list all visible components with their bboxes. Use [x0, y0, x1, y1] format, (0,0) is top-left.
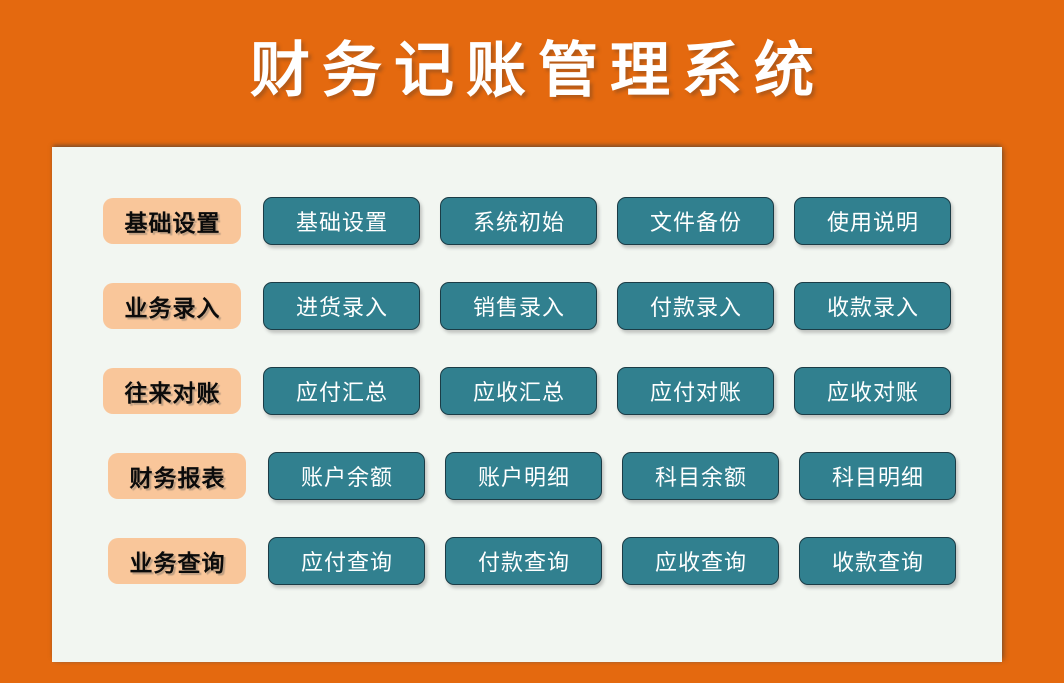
menu-cell: 销售录入: [440, 282, 597, 330]
menu-cell: 应付汇总: [263, 367, 420, 415]
menu-cell: 账户余额: [268, 452, 425, 500]
menu-cell: 科目明细: [799, 452, 956, 500]
page-title: 财务记账管理系统: [0, 33, 1064, 109]
button-payable-reconciliation[interactable]: 应付对账: [617, 367, 774, 415]
button-payment-query[interactable]: 付款查询: [445, 537, 602, 585]
button-sales-entry[interactable]: 销售录入: [440, 282, 597, 330]
button-account-details[interactable]: 账户明细: [445, 452, 602, 500]
category-label-basic-settings: 基础设置: [103, 198, 241, 244]
menu-cell: 基础设置: [263, 197, 420, 245]
button-receivable-summary[interactable]: 应收汇总: [440, 367, 597, 415]
category-label-financial-reports: 财务报表: [108, 453, 246, 499]
button-payable-summary[interactable]: 应付汇总: [263, 367, 420, 415]
menu-cell: 系统初始: [440, 197, 597, 245]
category-label-business-entry: 业务录入: [103, 283, 241, 329]
button-account-balance[interactable]: 账户余额: [268, 452, 425, 500]
button-subject-balance[interactable]: 科目余额: [622, 452, 779, 500]
menu-cell: 账户明细: [445, 452, 602, 500]
button-receivable-reconciliation[interactable]: 应收对账: [794, 367, 951, 415]
menu-row: 业务录入 进货录入 销售录入 付款录入 收款录入: [52, 282, 1002, 330]
button-payable-query[interactable]: 应付查询: [268, 537, 425, 585]
button-payment-entry[interactable]: 付款录入: [617, 282, 774, 330]
category-label-business-query: 业务查询: [108, 538, 246, 584]
menu-cell: 应付查询: [268, 537, 425, 585]
menu-cell: 付款录入: [617, 282, 774, 330]
category-label-reconciliation: 往来对账: [103, 368, 241, 414]
menu-row: 业务查询 应付查询 付款查询 应收查询 收款查询: [52, 537, 1002, 585]
menu-row: 基础设置 基础设置 系统初始 文件备份 使用说明: [52, 197, 1002, 245]
main-panel: 基础设置 基础设置 系统初始 文件备份 使用说明 业务录入 进货录入 销售录入: [52, 147, 1002, 662]
button-subject-details[interactable]: 科目明细: [799, 452, 956, 500]
menu-cell: 收款查询: [799, 537, 956, 585]
button-receipt-query[interactable]: 收款查询: [799, 537, 956, 585]
menu-cell: 应收对账: [794, 367, 951, 415]
menu-cell: 应付对账: [617, 367, 774, 415]
menu-cell: 科目余额: [622, 452, 779, 500]
button-basic-settings[interactable]: 基础设置: [263, 197, 420, 245]
menu-cell: 付款查询: [445, 537, 602, 585]
button-file-backup[interactable]: 文件备份: [617, 197, 774, 245]
menu-cell: 进货录入: [263, 282, 420, 330]
menu-grid: 基础设置 基础设置 系统初始 文件备份 使用说明 业务录入 进货录入 销售录入: [52, 147, 1002, 662]
menu-cell: 使用说明: [794, 197, 951, 245]
menu-cell: 应收汇总: [440, 367, 597, 415]
button-purchase-entry[interactable]: 进货录入: [263, 282, 420, 330]
menu-cell: 收款录入: [794, 282, 951, 330]
menu-cell: 文件备份: [617, 197, 774, 245]
menu-cell: 应收查询: [622, 537, 779, 585]
button-usage-instructions[interactable]: 使用说明: [794, 197, 951, 245]
button-receivable-query[interactable]: 应收查询: [622, 537, 779, 585]
button-system-init[interactable]: 系统初始: [440, 197, 597, 245]
button-receipt-entry[interactable]: 收款录入: [794, 282, 951, 330]
menu-row: 往来对账 应付汇总 应收汇总 应付对账 应收对账: [52, 367, 1002, 415]
menu-row: 财务报表 账户余额 账户明细 科目余额 科目明细: [52, 452, 1002, 500]
